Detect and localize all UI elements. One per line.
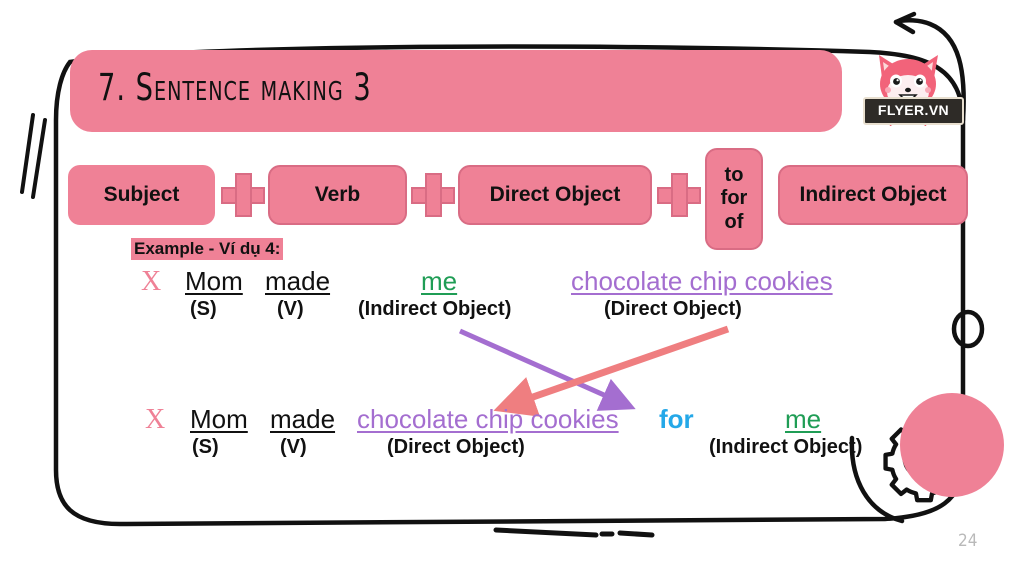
left-slash-2 [22,115,33,192]
bottom-dash-1 [496,530,596,535]
row2-tag-direct-object: (Direct Object) [387,436,525,459]
page-title: 7. Sentence making 3 [98,66,372,109]
gear-decoration [866,386,1016,531]
plus-operator-1 [221,173,265,217]
example-label: Example - Ví dụ 4: [131,238,283,260]
indirect-object-swap-arrow [460,331,622,403]
formula-box-indirect-object: Indirect Object [778,165,968,225]
slide-canvas: 7. Sentence making 3 [0,0,1024,576]
preposition-to: to [725,164,744,188]
row2-word-direct-object: chocolate chip cookies [357,404,619,435]
row1-word-verb: made [265,266,330,297]
row1-tag-direct-object: (Direct Object) [604,298,742,321]
cross-mark-icon-row1: X [141,266,161,298]
page-number: 24 [958,531,977,551]
row1-word-indirect-object: me [421,266,457,297]
row2-word-subject: Mom [190,404,248,435]
row1-word-direct-object: chocolate chip cookies [571,266,833,297]
plus-operator-2 [411,173,455,217]
cross-mark-icon-row2: X [145,404,165,436]
plus-operator-3 [657,173,701,217]
row2-tag-verb: (V) [280,436,307,459]
row1-word-subject: Mom [185,266,243,297]
top-right-arrowhead-icon [896,14,914,32]
row1-tag-verb: (V) [277,298,304,321]
flyer-vn-logo: FLYER.VN [862,50,962,132]
formula-box-direct-object: Direct Object [458,165,652,225]
logo-banner-text: FLYER.VN [863,97,964,125]
preposition-of: of [725,211,744,235]
formula-box-verb: Verb [268,165,407,225]
row1-tag-subject: (S) [190,298,217,321]
row2-word-verb: made [270,404,335,435]
preposition-for: for [721,187,748,211]
row2-word-preposition: for [659,404,694,435]
right-circle-marker [954,312,982,346]
gear-blob [900,393,1004,497]
bottom-dash-3 [620,533,652,535]
formula-box-subject: Subject [68,165,215,225]
formula-box-preposition: to for of [705,148,763,250]
direct-object-swap-arrow [510,329,728,405]
row2-word-indirect-object: me [785,404,821,435]
row2-tag-indirect-object: (Indirect Object) [709,436,862,459]
left-slash-1 [33,120,45,197]
row2-tag-subject: (S) [192,436,219,459]
row1-tag-indirect-object: (Indirect Object) [358,298,511,321]
